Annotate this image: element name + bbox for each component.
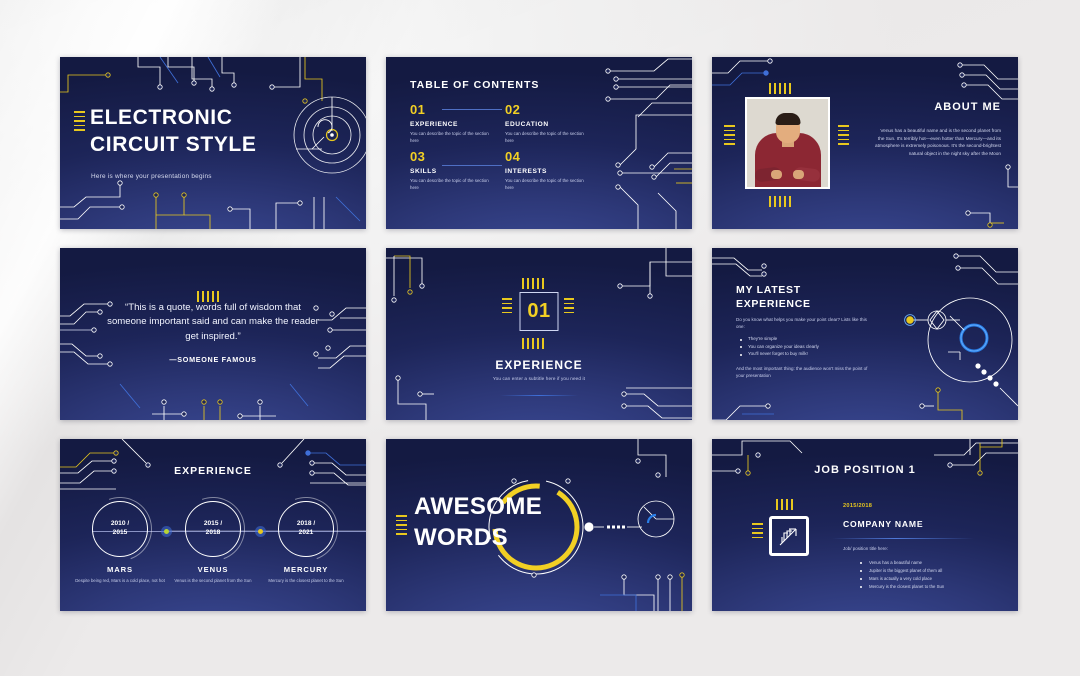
chip-pins-top — [522, 278, 544, 289]
section-number: 01 — [527, 300, 550, 323]
section-number-chip: 01 — [520, 292, 559, 331]
company-name: COMPANY NAME — [843, 519, 923, 529]
timeline-years: 2018 / 2021 — [297, 520, 315, 538]
slide-quote[interactable]: “This is a quote, words full of wisdom t… — [60, 248, 366, 420]
tick-marks-left — [74, 111, 85, 131]
icon-pins-top — [776, 499, 793, 510]
tick-marks-right — [838, 125, 849, 145]
slide-table-of-contents[interactable]: TABLE OF CONTENTS 01 EXPERIENCE You can … — [386, 57, 692, 229]
list-item: They're simple — [740, 335, 880, 343]
avatar-hand-left — [771, 170, 782, 179]
about-me-body: Venus has a beautiful name and is the se… — [875, 127, 1001, 157]
avatar-hand-right — [793, 170, 804, 179]
timeline-heading: EXPERIENCE — [174, 465, 252, 477]
section-subtitle: You can enter a subtitle here if you nee… — [493, 376, 585, 381]
latest-experience-intro: Do you know what helps you make your poi… — [736, 317, 871, 331]
timeline-desc: Mercury is the closest planet to the Sun — [260, 578, 352, 584]
tick-marks-left — [396, 515, 407, 535]
slide-job-position[interactable]: JOB POSITION 1 2015/2018 COMPANY NAME Jo… — [712, 439, 1018, 611]
timeline-circle: 2015 / 2018 — [185, 501, 241, 557]
toc-item-desc: You can describe the topic of the sectio… — [505, 131, 588, 144]
tick-marks-bottom — [769, 196, 791, 207]
quote-attribution: —SOMEONE FAMOUS — [169, 355, 256, 364]
toc-item-title: EXPERIENCE — [410, 121, 493, 128]
section-underline — [500, 395, 578, 396]
slide-my-latest-experience[interactable]: MY LATEST EXPERIENCE Do you know what he… — [712, 248, 1018, 420]
latest-experience-bullets: They're simple You can organize your ide… — [740, 335, 880, 358]
toc-item-number: 04 — [505, 150, 588, 163]
slide-cover[interactable]: ELECTRONIC CIRCUIT STYLE Here is where y… — [60, 57, 366, 229]
slide-section-experience[interactable]: 01 EXPERIENCE You can enter a subtitle h… — [386, 248, 692, 420]
timeline-desc: Despite being red, Mars is a cold place,… — [74, 578, 166, 584]
list-item: You'll never forget to buy milk! — [740, 350, 880, 358]
timeline-label: MARS — [74, 565, 166, 574]
list-item: Mercury is the closest planet to the Sun — [860, 583, 1010, 591]
chip-pins-right — [564, 298, 574, 313]
toc-item-number: 03 — [410, 150, 493, 163]
job-position-heading: JOB POSITION 1 — [814, 464, 915, 476]
toc-item-02[interactable]: 02 EDUCATION You can describe the topic … — [505, 103, 588, 144]
section-heading: EXPERIENCE — [495, 358, 582, 372]
list-item: Jupiter is the biggest planet of them al… — [860, 567, 1010, 575]
quote-text: “This is a quote, words full of wisdom t… — [104, 301, 322, 344]
slide-grid: ELECTRONIC CIRCUIT STYLE Here is where y… — [60, 57, 1018, 610]
awesome-words-title: AWESOME WORDS — [414, 491, 542, 553]
job-bullets: Venus has a beautiful name Jupiter is th… — [860, 559, 1010, 591]
toc-item-desc: You can describe the topic of the sectio… — [410, 178, 493, 191]
chip-pins-bottom — [522, 338, 544, 349]
timeline-circle: 2010 / 2015 — [92, 501, 148, 557]
circuit-branch-icon — [769, 516, 809, 556]
job-dates: 2015/2018 — [843, 503, 872, 509]
timeline-label: VENUS — [167, 565, 259, 574]
timeline-milestone-1[interactable]: 2010 / 2015 MARS Despite being red, Mars… — [74, 501, 166, 584]
company-underline — [832, 538, 974, 539]
timeline-circle: 2018 / 2021 — [278, 501, 334, 557]
slide-awesome-words[interactable]: AWESOME WORDS — [386, 439, 692, 611]
toc-list: 01 EXPERIENCE You can describe the topic… — [410, 103, 588, 191]
timeline-milestone-3[interactable]: 2018 / 2021 MERCURY Mercury is the close… — [260, 501, 352, 584]
list-item: Venus has a beautiful name — [860, 559, 1010, 567]
toc-item-desc: You can describe the topic of the sectio… — [410, 131, 493, 144]
toc-item-04[interactable]: 04 INTERESTS You can describe the topic … — [505, 150, 588, 191]
chip-pins-left — [502, 298, 512, 313]
job-title-lead: Job/ position title here: — [843, 546, 888, 551]
timeline-years: 2015 / 2018 — [204, 520, 222, 538]
toc-item-number: 02 — [505, 103, 588, 116]
latest-experience-heading: MY LATEST EXPERIENCE — [736, 284, 811, 312]
timeline-milestone-2[interactable]: 2015 / 2018 VENUS Venus is the second pl… — [167, 501, 259, 584]
toc-item-title: EDUCATION — [505, 121, 588, 128]
icon-pins-left — [752, 523, 763, 538]
timeline-desc: Venus is the second planet from the Sun — [167, 578, 259, 584]
tick-marks-left — [724, 125, 735, 145]
avatar — [745, 97, 830, 189]
toc-item-title: SKILLS — [410, 168, 493, 175]
branch-glyph — [776, 523, 802, 549]
tick-marks-top — [769, 83, 791, 94]
toc-item-01[interactable]: 01 EXPERIENCE You can describe the topic… — [410, 103, 493, 144]
timeline-label: MERCURY — [260, 565, 352, 574]
toc-item-number: 01 — [410, 103, 493, 116]
slide-about-me[interactable]: ABOUT ME Venus has a beautiful name and … — [712, 57, 1018, 229]
slide-experience-timeline[interactable]: EXPERIENCE 2010 / 2015 MARS Despite bein… — [60, 439, 366, 611]
list-item: Mars is actually a very cold place — [860, 575, 1010, 583]
toc-item-title: INTERESTS — [505, 168, 588, 175]
about-me-heading: ABOUT ME — [934, 101, 1001, 113]
timeline-years: 2010 / 2015 — [111, 520, 129, 538]
toc-heading: TABLE OF CONTENTS — [410, 79, 539, 91]
timeline: 2010 / 2015 MARS Despite being red, Mars… — [60, 501, 366, 601]
circuit-decoration — [712, 248, 1018, 420]
toc-item-03[interactable]: 03 SKILLS You can describe the topic of … — [410, 150, 493, 191]
avatar-hair — [775, 113, 800, 125]
list-item: You can organize your ideas clearly — [740, 343, 880, 351]
latest-experience-footer: And the most important thing: the audien… — [736, 366, 871, 380]
toc-item-desc: You can describe the topic of the sectio… — [505, 178, 588, 191]
cover-title: ELECTRONIC CIRCUIT STYLE — [90, 105, 256, 159]
cover-subtitle: Here is where your presentation begins — [91, 173, 212, 180]
